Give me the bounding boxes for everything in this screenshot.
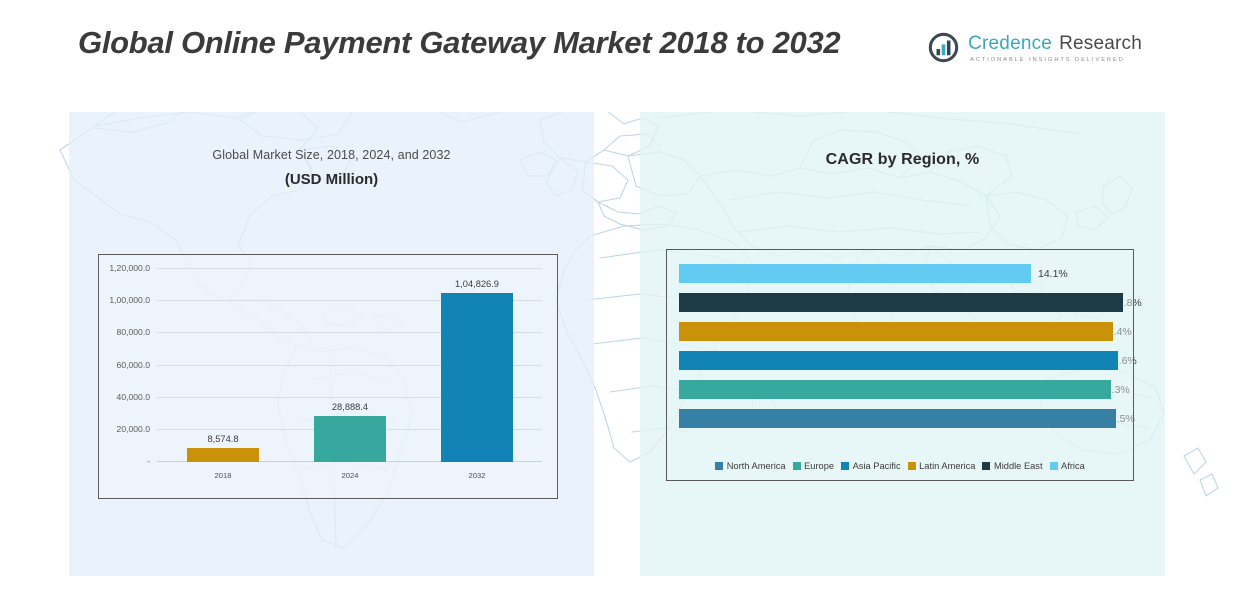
- ytick-label-100000: 1,00,000.0: [109, 295, 150, 305]
- bar-value-africa: 14.1%: [1038, 268, 1068, 280]
- gridline-120000: 1,20,000.0: [157, 268, 542, 269]
- ytick-label-40000: 40,000.0: [117, 392, 150, 402]
- left-chart-title-block: Global Market Size, 2018, 2024, and 2032…: [69, 148, 594, 188]
- legend-item-africa[interactable]: Africa: [1050, 461, 1085, 471]
- column-chart-plot-area: 1,20,000.0 1,00,000.0 80,000.0 60,000.0 …: [157, 269, 542, 462]
- bar-latin-america[interactable]: [679, 322, 1113, 341]
- legend-swatch-africa: [1050, 462, 1058, 470]
- legend-swatch-north-america: [715, 462, 723, 470]
- right-chart-title-block: CAGR by Region, %: [640, 151, 1165, 169]
- ytick-label-60000: 60,000.0: [117, 360, 150, 370]
- bar-row-europe[interactable]: 17.3%: [679, 380, 1130, 399]
- legend-item-europe[interactable]: Europe: [793, 461, 834, 471]
- legend-item-middle-east[interactable]: Middle East: [982, 461, 1042, 471]
- cagr-bar-plot-area: 14.1% 17.8% 17.4% 17.6% 17.3%: [679, 262, 1123, 434]
- column-chart: 1,20,000.0 1,00,000.0 80,000.0 60,000.0 …: [98, 254, 558, 499]
- bar-row-middle-east[interactable]: 17.8%: [679, 293, 1142, 312]
- column-category-2018: 2018: [215, 471, 232, 480]
- legend-swatch-latin-america: [908, 462, 916, 470]
- column-group-2032[interactable]: 1,04,826.9 2032: [441, 279, 513, 462]
- column-bar-2032[interactable]: [441, 293, 513, 462]
- cagr-legend: North America Europe Asia Pacific Latin …: [667, 461, 1133, 471]
- bar-europe[interactable]: [679, 380, 1111, 399]
- legend-label-latin-america: Latin America: [919, 461, 975, 471]
- brand-wordmark: Credence Research: [968, 33, 1142, 55]
- legend-swatch-middle-east: [982, 462, 990, 470]
- bar-asia-pacific[interactable]: [679, 351, 1118, 370]
- right-panel: CAGR by Region, % 14.1% 17.8% 17.4%: [640, 112, 1165, 576]
- ytick-label-zero: -: [147, 456, 150, 466]
- legend-item-north-america[interactable]: North America: [715, 461, 785, 471]
- bar-row-asia-pacific[interactable]: 17.6%: [679, 351, 1137, 370]
- legend-item-asia-pacific[interactable]: Asia Pacific: [841, 461, 901, 471]
- column-group-2024[interactable]: 28,888.4 2024: [314, 402, 386, 463]
- left-panel: Global Market Size, 2018, 2024, and 2032…: [69, 112, 594, 576]
- column-value-2024: 28,888.4: [332, 402, 368, 412]
- infographic-page: Global Market Size, 2018, 2024, and 2032…: [0, 0, 1237, 592]
- left-chart-subtitle: Global Market Size, 2018, 2024, and 2032: [69, 148, 594, 162]
- legend-label-north-america: North America: [727, 461, 786, 471]
- bar-africa[interactable]: [679, 264, 1031, 283]
- ytick-label-120000: 1,20,000.0: [109, 263, 150, 273]
- brand-name-research: Research: [1059, 33, 1142, 55]
- column-value-2032: 1,04,826.9: [455, 279, 499, 289]
- column-category-2032: 2032: [469, 471, 486, 480]
- left-chart-units: (USD Million): [69, 171, 594, 188]
- brand-name-credence: Credence: [968, 33, 1052, 55]
- brand-tagline: Actionable Insights Delivered: [970, 57, 1142, 63]
- cagr-bar-chart: 14.1% 17.8% 17.4% 17.6% 17.3%: [666, 249, 1134, 481]
- legend-label-africa: Africa: [1061, 461, 1085, 471]
- ytick-label-20000: 20,000.0: [117, 424, 150, 434]
- bar-row-north-america[interactable]: 17.5%: [679, 409, 1135, 428]
- right-chart-title: CAGR by Region, %: [640, 151, 1165, 169]
- column-category-2024: 2024: [342, 471, 359, 480]
- column-bar-2024[interactable]: [314, 416, 386, 463]
- page-title: Global Online Payment Gateway Market 201…: [78, 22, 958, 63]
- legend-swatch-europe: [793, 462, 801, 470]
- ytick-label-80000: 80,000.0: [117, 327, 150, 337]
- header: Global Online Payment Gateway Market 201…: [0, 0, 1237, 112]
- legend-label-asia-pacific: Asia Pacific: [853, 461, 901, 471]
- legend-swatch-asia-pacific: [841, 462, 849, 470]
- legend-label-middle-east: Middle East: [994, 461, 1043, 471]
- bar-middle-east[interactable]: [679, 293, 1123, 312]
- bar-row-latin-america[interactable]: 17.4%: [679, 322, 1132, 341]
- column-group-2018[interactable]: 8,574.8 2018: [187, 434, 259, 462]
- legend-label-europe: Europe: [804, 461, 834, 471]
- column-value-2018: 8,574.8: [207, 434, 238, 444]
- brand-logo[interactable]: Credence Research Actionable Insights De…: [928, 32, 1142, 63]
- brand-text: Credence Research Actionable Insights De…: [968, 33, 1142, 63]
- bar-chart-circle-icon: [928, 32, 959, 63]
- column-bar-2018[interactable]: [187, 448, 259, 462]
- bar-north-america[interactable]: [679, 409, 1116, 428]
- bar-row-africa[interactable]: 14.1%: [679, 264, 1068, 283]
- legend-item-latin-america[interactable]: Latin America: [908, 461, 976, 471]
